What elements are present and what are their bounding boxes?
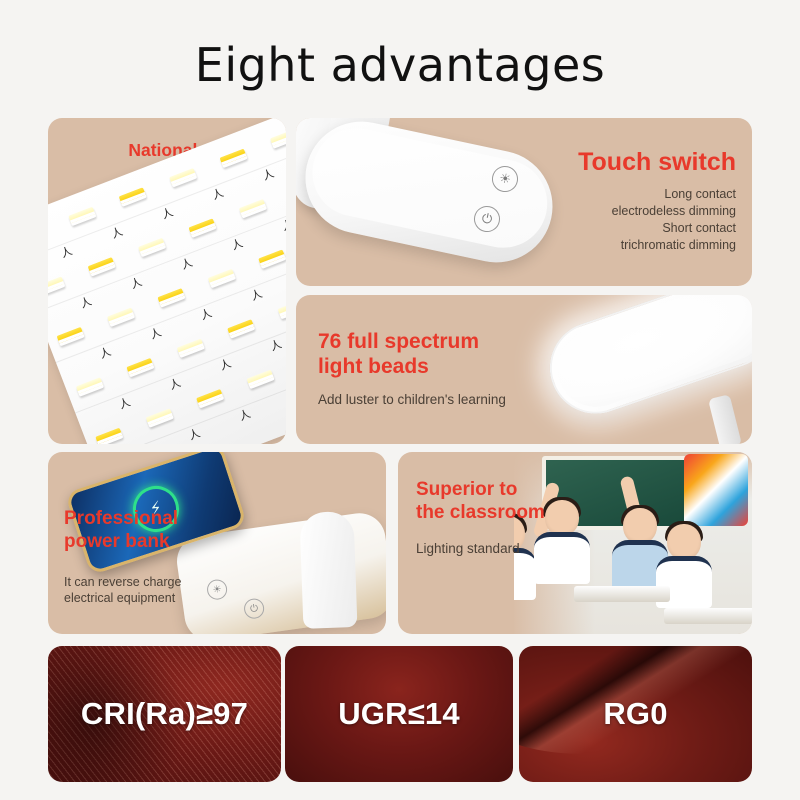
classroom-photo xyxy=(514,452,752,634)
desk xyxy=(574,586,670,602)
resistor-mark-icon xyxy=(261,168,275,183)
resistor-mark-icon xyxy=(118,397,132,412)
resistor-mark-icon xyxy=(281,219,286,234)
lamp-body xyxy=(296,118,563,273)
resistor-mark-icon xyxy=(230,238,244,253)
wall-poster xyxy=(684,454,748,526)
page-title: Eight advantages xyxy=(0,38,800,92)
lamp-base-image: ☀ ⏻ xyxy=(296,118,586,286)
resistor-mark-icon xyxy=(98,346,112,361)
panel-power-bank-subline: It can reverse charge electrical equipme… xyxy=(64,574,181,607)
resistor-mark-icon xyxy=(79,296,93,311)
panel-touch-switch-headline: Touch switch xyxy=(578,148,736,178)
panel-light-beads: 76 full spectrum light beads Add luster … xyxy=(296,295,752,444)
brightness-icon: ☀ xyxy=(206,578,229,601)
resistor-mark-icon xyxy=(160,207,174,222)
resistor-mark-icon xyxy=(149,327,163,342)
resistor-mark-icon xyxy=(211,188,225,203)
badge-cri-label: CRI(Ra)≥97 xyxy=(81,696,248,732)
panel-classroom-subline: Lighting standard xyxy=(416,540,520,558)
panel-classroom: Superior to the classroom Lighting stand… xyxy=(398,452,752,634)
resistor-mark-icon xyxy=(180,257,194,272)
panel-light-beads-headline: 76 full spectrum light beads xyxy=(318,329,479,379)
lamp-neck xyxy=(708,394,742,444)
badge-ugr: UGR≤14 xyxy=(285,646,513,782)
advantages-infographic: Eight advantages National AA high illumi… xyxy=(0,0,800,800)
led-circuit-board-image xyxy=(48,118,286,444)
resistor-mark-icon xyxy=(110,226,124,241)
power-icon: ⏻ xyxy=(243,597,266,620)
badge-ugr-label: UGR≤14 xyxy=(338,696,460,732)
resistor-mark-icon xyxy=(269,339,283,354)
panel-classroom-headline: Superior to the classroom xyxy=(416,478,545,524)
badge-cri: CRI(Ra)≥97 xyxy=(48,646,281,782)
badge-rg0-label: RG0 xyxy=(603,696,667,732)
lamp-arm xyxy=(299,511,357,629)
panel-touch-switch: ☀ ⏻ Touch switch Long contact electrodel… xyxy=(296,118,752,286)
panel-national-aa: National AA high illuminance Uniformity … xyxy=(48,118,286,444)
panel-power-bank: ☀ ⏻ ⚡ Professional power bank It can rev… xyxy=(48,452,386,634)
panel-light-beads-subline: Add luster to children's learning xyxy=(318,391,506,409)
resistor-mark-icon xyxy=(60,246,74,261)
resistor-mark-icon xyxy=(250,288,264,303)
resistor-mark-icon xyxy=(199,308,213,323)
panel-touch-switch-subline: Long contact electrodeless dimming Short… xyxy=(612,186,736,254)
resistor-mark-icon xyxy=(168,377,182,392)
desk xyxy=(664,608,752,624)
resistor-mark-icon xyxy=(218,358,232,373)
resistor-mark-icon xyxy=(187,428,201,443)
badge-rg0: RG0 xyxy=(519,646,752,782)
panel-power-bank-headline: Professional power bank xyxy=(64,508,178,554)
resistor-mark-icon xyxy=(129,277,143,292)
resistor-mark-icon xyxy=(238,409,252,424)
